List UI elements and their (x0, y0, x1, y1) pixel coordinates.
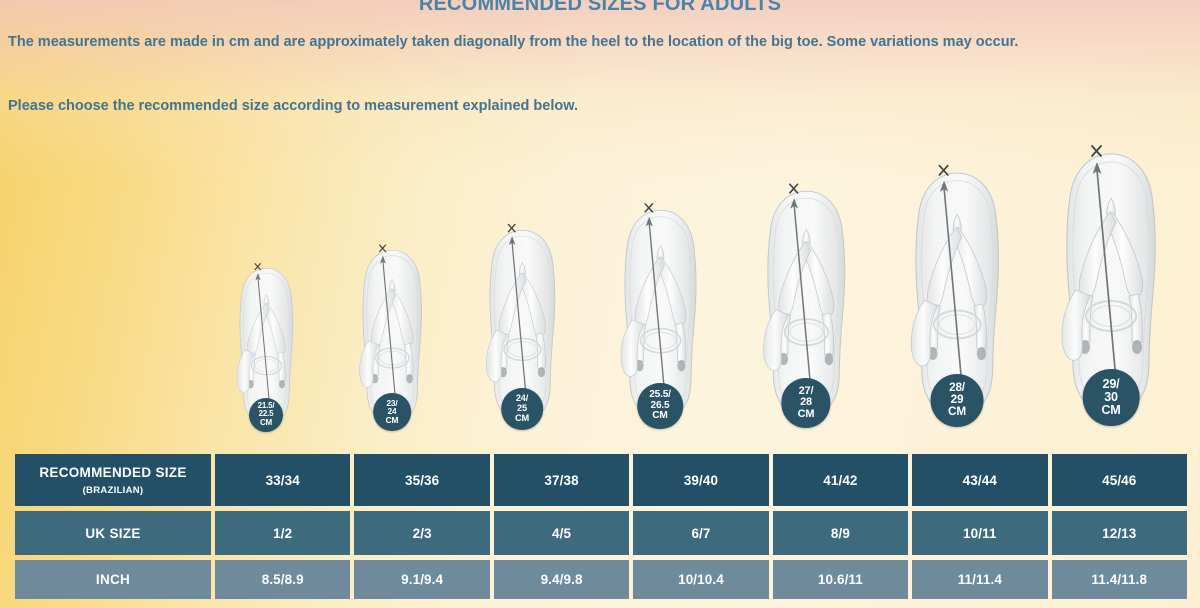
header-block: RECOMMENDED SIZES FOR ADULTS The measure… (0, 0, 1200, 14)
sandal-item: 28/29CM (902, 160, 1012, 441)
size-cell: 6/7 (633, 511, 768, 555)
sandal-item: 29/30CM (1052, 140, 1170, 440)
size-cell: 43/44 (912, 454, 1047, 506)
size-cell: 4/5 (494, 511, 629, 555)
badge-cm-unit: CM (386, 416, 399, 425)
badge-cm-unit: CM (1101, 404, 1120, 417)
size-cell: 33/34 (215, 454, 350, 506)
table-row: INCH8.5/8.99.1/9.49.4/9.810/10.410.6/111… (15, 560, 1187, 599)
size-chart-page: RECOMMENDED SIZES FOR ADULTS The measure… (0, 0, 1200, 608)
badge-cm-unit: CM (260, 419, 272, 427)
size-badge: 24/25CM (501, 388, 543, 430)
size-cell: 11.4/11.8 (1052, 560, 1187, 599)
page-title: RECOMMENDED SIZES FOR ADULTS (0, 0, 1200, 14)
intro-paragraph: The measurements are made in cm and are … (8, 32, 1192, 53)
size-table: RECOMMENDED SIZE(BRAZILIAN)33/3435/3637/… (11, 449, 1191, 604)
size-cell: 9.1/9.4 (354, 560, 489, 599)
badge-cm-top: 29/ (1103, 378, 1120, 391)
instruction-paragraph: Please choose the recommended size accor… (8, 96, 1192, 117)
size-cell: 10.6/11 (773, 560, 908, 599)
size-badge: 28/29CM (931, 374, 984, 427)
sandal-item: 25.5/26.5CM (613, 199, 708, 441)
row-label-cell: UK SIZE (15, 511, 211, 555)
table-row: UK SIZE1/22/34/56/78/910/1112/13 (15, 511, 1187, 555)
size-cell: 8.5/8.9 (215, 560, 350, 599)
sandal-slot: 27/28CM (755, 179, 858, 440)
sandal-illustration-row: 21.5/22.5CM (0, 140, 1200, 440)
sandal-item: 27/28CM (755, 179, 858, 440)
badge-cm-bottom: 29 (951, 394, 964, 406)
size-badge: 23/24CM (373, 393, 411, 431)
size-cell: 11/11.4 (912, 560, 1047, 599)
size-cell: 39/40 (633, 454, 768, 506)
size-cell: 2/3 (354, 511, 489, 555)
sandal-item: 21.5/22.5CM (231, 260, 302, 440)
size-badge: 25.5/26.5CM (637, 383, 683, 429)
size-cell: 37/38 (494, 454, 629, 506)
size-badge: 21.5/22.5CM (249, 398, 283, 432)
sandal-slot: 28/29CM (902, 160, 1012, 441)
row-label: RECOMMENDED SIZE (15, 465, 211, 480)
sandal-slot: 23/24CM (353, 241, 431, 441)
sandal-item: 24/25CM (479, 220, 566, 441)
badge-cm-unit: CM (948, 406, 966, 418)
badge-cm-bottom: 30 (1104, 391, 1118, 404)
badge-cm-unit: CM (515, 414, 529, 424)
badge-cm-unit: CM (652, 411, 667, 422)
size-cell: 10/11 (912, 511, 1047, 555)
size-table-body: RECOMMENDED SIZE(BRAZILIAN)33/3435/3637/… (15, 454, 1187, 599)
size-cell: 1/2 (215, 511, 350, 555)
badge-cm-top: 25.5/ (649, 390, 671, 401)
sandal-slot: 25.5/26.5CM (613, 199, 708, 441)
size-badge: 29/30CM (1083, 369, 1140, 426)
size-cell: 41/42 (773, 454, 908, 506)
row-sublabel: (BRAZILIAN) (15, 485, 211, 496)
sandal-slot: 29/30CM (1052, 140, 1170, 440)
size-cell: 10/10.4 (633, 560, 768, 599)
size-cell: 9.4/9.8 (494, 560, 629, 599)
table-row: RECOMMENDED SIZE(BRAZILIAN)33/3435/3637/… (15, 454, 1187, 506)
size-cell: 8/9 (773, 511, 908, 555)
row-label: INCH (15, 572, 211, 587)
size-cell: 12/13 (1052, 511, 1187, 555)
sandal-slot: 24/25CM (479, 220, 566, 441)
sandal-slot: 21.5/22.5CM (231, 260, 302, 440)
row-label-cell: INCH (15, 560, 211, 599)
badge-cm-unit: CM (798, 409, 815, 420)
sandal-item: 23/24CM (353, 241, 431, 441)
size-cell: 35/36 (354, 454, 489, 506)
row-label: UK SIZE (15, 526, 211, 541)
row-label-cell: RECOMMENDED SIZE(BRAZILIAN) (15, 454, 211, 506)
size-cell: 45/46 (1052, 454, 1187, 506)
